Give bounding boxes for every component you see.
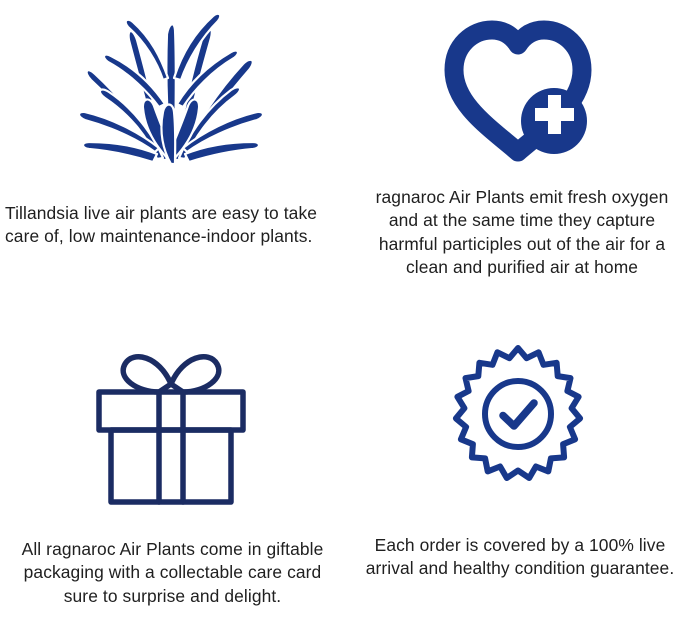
caption-block-air-plant-care: Tillandsia live air plants are easy to t… xyxy=(0,202,341,249)
caption-block-giftable-packaging: All ragnaroc Air Plants come in giftable… xyxy=(0,538,341,608)
feature-cell-live-arrival-guarantee: Each order is covered by a 100% live arr… xyxy=(349,308,679,617)
gift-box-icon xyxy=(81,340,261,508)
caption-block-live-arrival-guarantee: Each order is covered by a 100% live arr… xyxy=(357,534,679,581)
guarantee-badge-icon-wrap xyxy=(357,340,679,490)
feature-caption-giftable-packaging: All ragnaroc Air Plants come in giftable… xyxy=(10,538,335,608)
air-plant-icon-wrap xyxy=(0,8,341,178)
feature-caption-air-plant-care: Tillandsia live air plants are easy to t… xyxy=(5,202,335,249)
feature-caption-live-arrival-guarantee: Each order is covered by a 100% live arr… xyxy=(363,534,677,581)
feature-cell-giftable-packaging: All ragnaroc Air Plants come in giftable… xyxy=(0,308,349,617)
guarantee-badge-icon xyxy=(443,340,593,490)
heart-plus-icon xyxy=(438,8,598,168)
air-plant-icon xyxy=(71,8,271,178)
feature-caption-fresh-oxygen: ragnaroc Air Plants emit fresh oxygen an… xyxy=(367,186,677,279)
gift-box-icon-wrap xyxy=(0,340,341,508)
feature-cell-air-plant-care: Tillandsia live air plants are easy to t… xyxy=(0,0,349,308)
heart-plus-icon-wrap xyxy=(357,8,679,168)
feature-cell-fresh-oxygen: ragnaroc Air Plants emit fresh oxygen an… xyxy=(349,0,679,308)
feature-grid: Tillandsia live air plants are easy to t… xyxy=(0,0,679,617)
caption-block-fresh-oxygen: ragnaroc Air Plants emit fresh oxygen an… xyxy=(357,186,679,279)
